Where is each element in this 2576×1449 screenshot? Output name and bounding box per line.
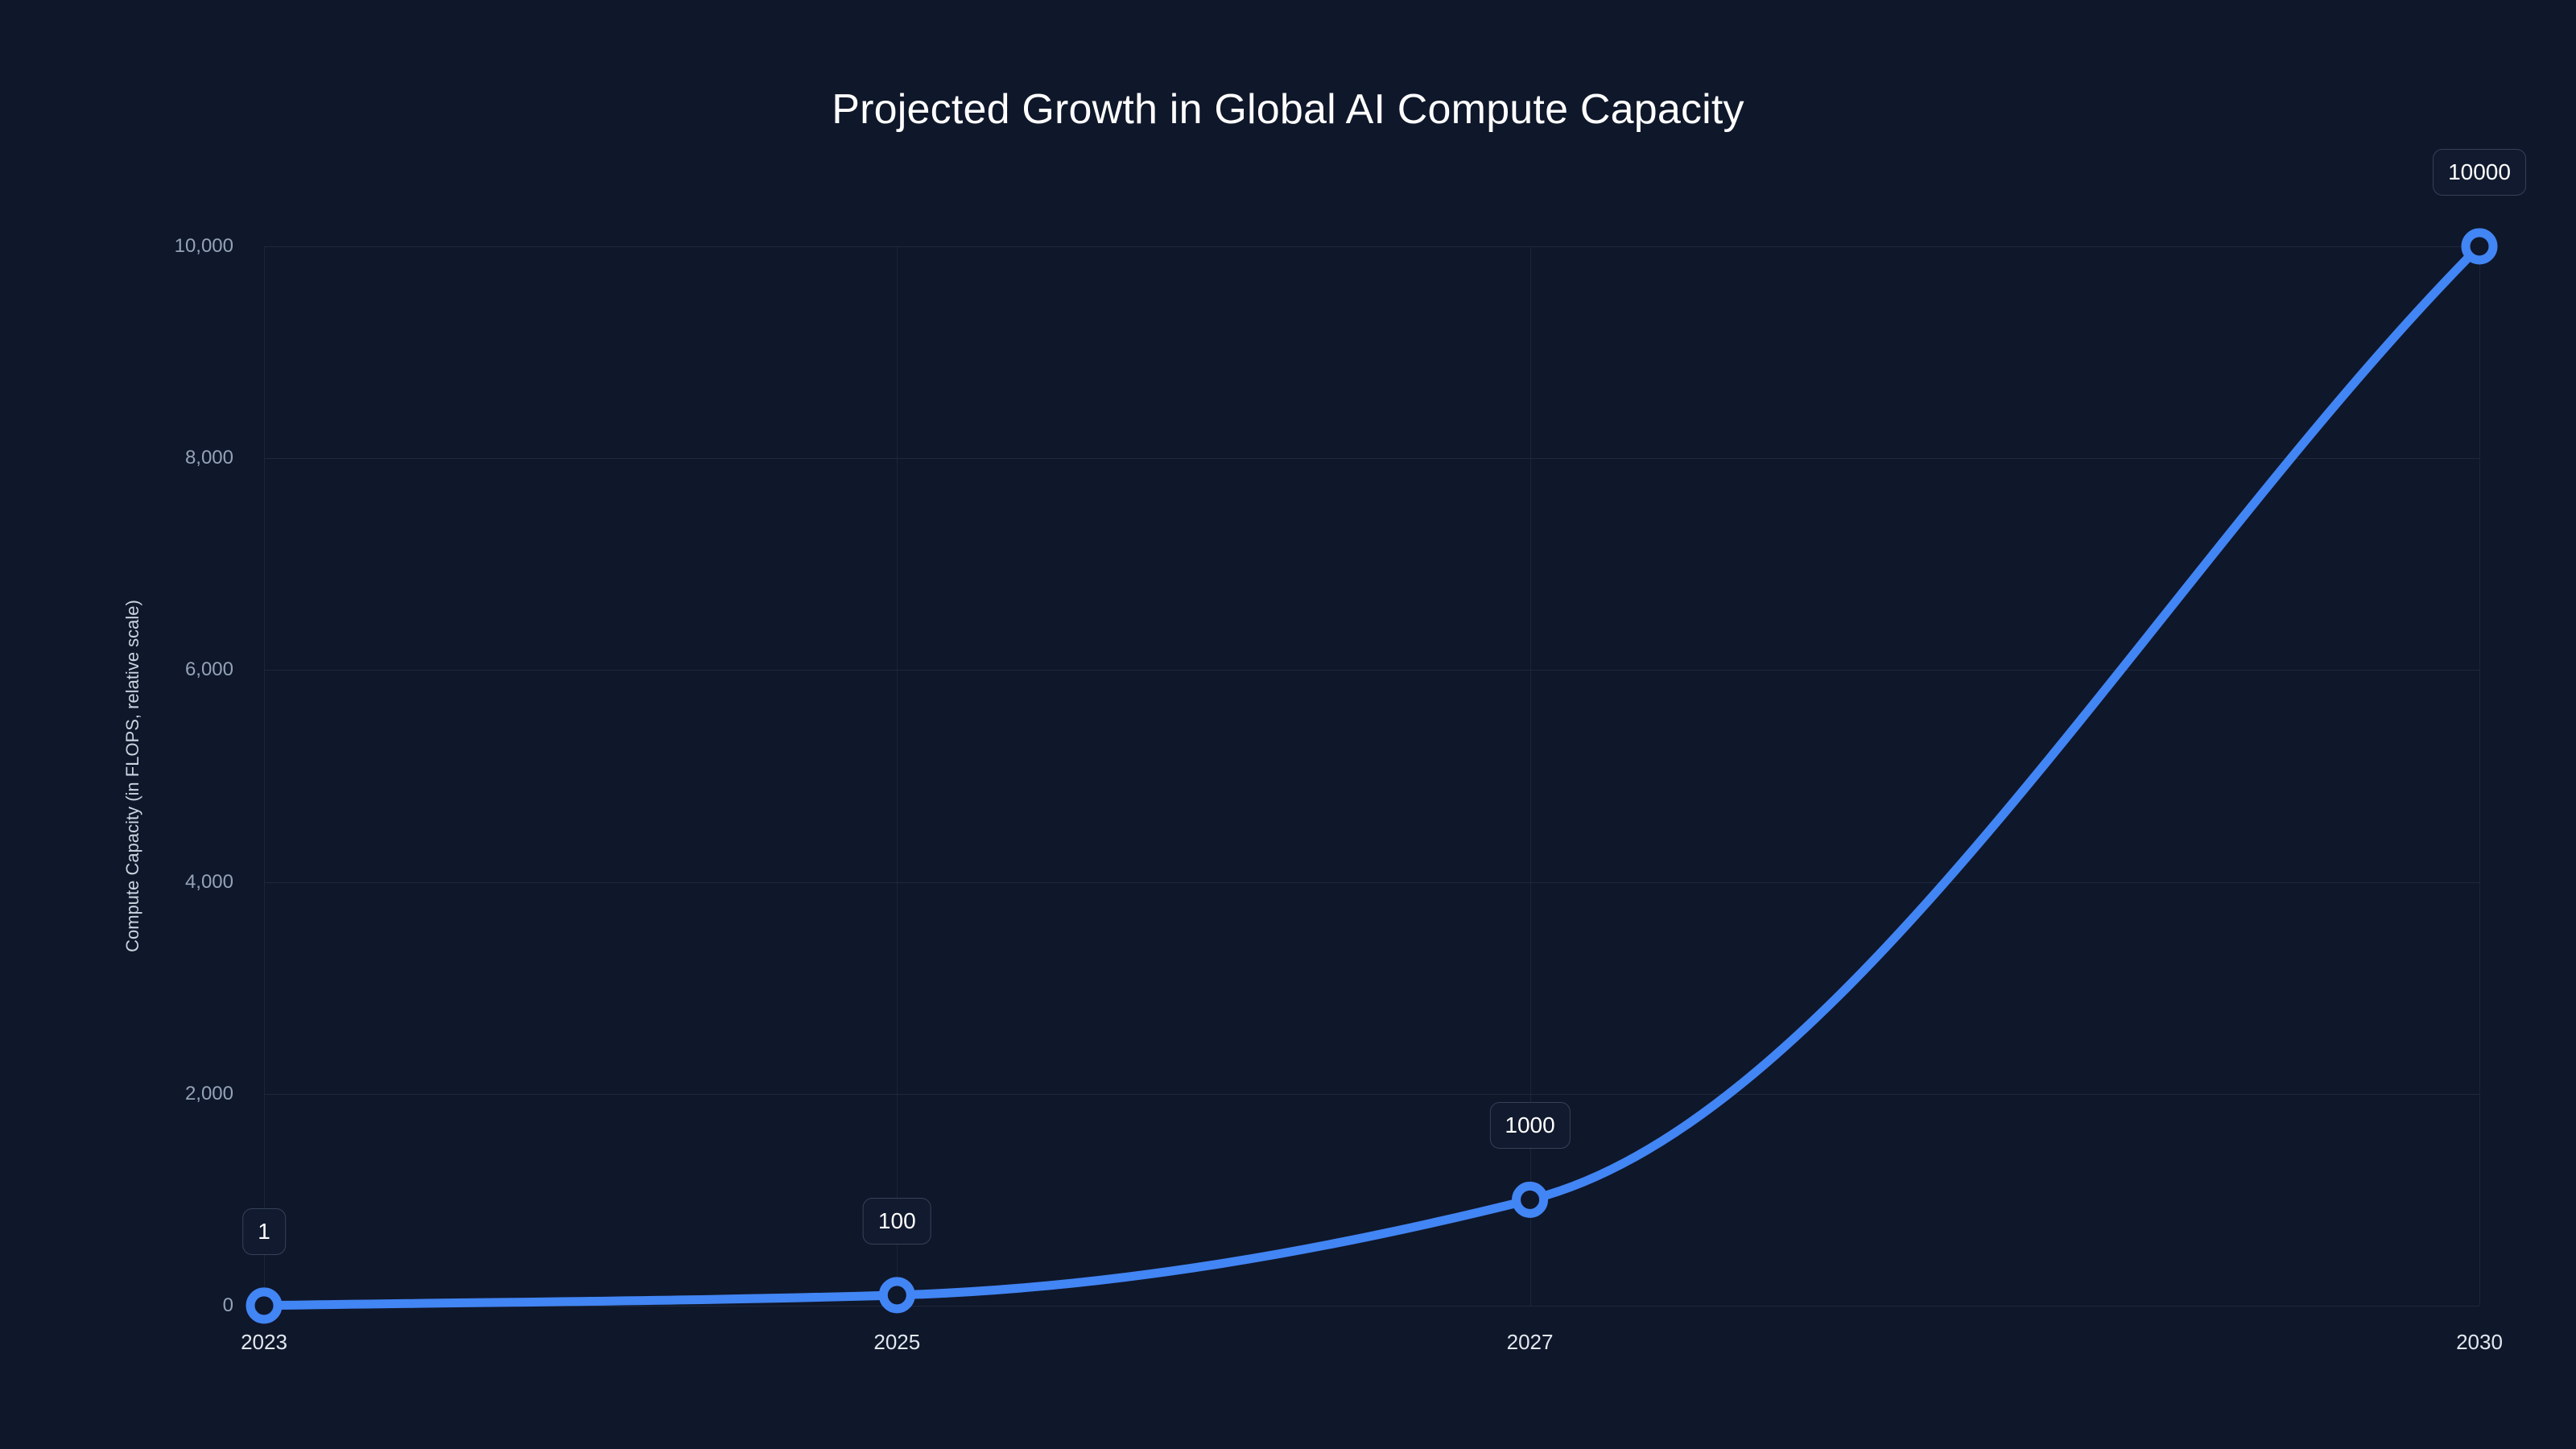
gridline-horizontal: [264, 882, 2479, 883]
data-point-label: 10000: [2433, 149, 2526, 196]
gridline-horizontal: [264, 1094, 2479, 1095]
y-axis-tick-label: 6,000: [0, 660, 233, 679]
chart-canvas: Projected Growth in Global AI Compute Ca…: [0, 0, 2576, 1449]
gridline-horizontal: [264, 1306, 2479, 1307]
y-axis-tick-label: 2,000: [0, 1084, 233, 1104]
gridline-horizontal: [264, 246, 2479, 247]
gridline-vertical: [264, 246, 265, 1306]
data-point-label: 1000: [1489, 1102, 1570, 1149]
x-axis-tick-label: 2023: [167, 1331, 361, 1352]
y-axis-title: Compute Capacity (in FLOPS, relative sca…: [121, 246, 145, 1306]
x-axis-tick-label: 2030: [2383, 1331, 2576, 1352]
gridline-horizontal: [264, 458, 2479, 459]
gridline-vertical: [897, 246, 898, 1306]
gridline-horizontal: [264, 670, 2479, 671]
x-axis-tick-label: 2025: [800, 1331, 993, 1352]
y-axis-tick-label: 0: [0, 1296, 233, 1315]
y-axis-tick-label: 8,000: [0, 448, 233, 468]
data-point-label: 1: [242, 1208, 286, 1255]
y-axis-tick-label: 10,000: [0, 237, 233, 256]
gridline-vertical: [2479, 246, 2480, 1306]
y-axis-tick-label: 4,000: [0, 873, 233, 892]
plot-area: [264, 246, 2479, 1306]
chart-title: Projected Growth in Global AI Compute Ca…: [0, 89, 2576, 130]
data-point-label: 100: [863, 1198, 931, 1245]
x-axis-tick-label: 2027: [1434, 1331, 1627, 1352]
